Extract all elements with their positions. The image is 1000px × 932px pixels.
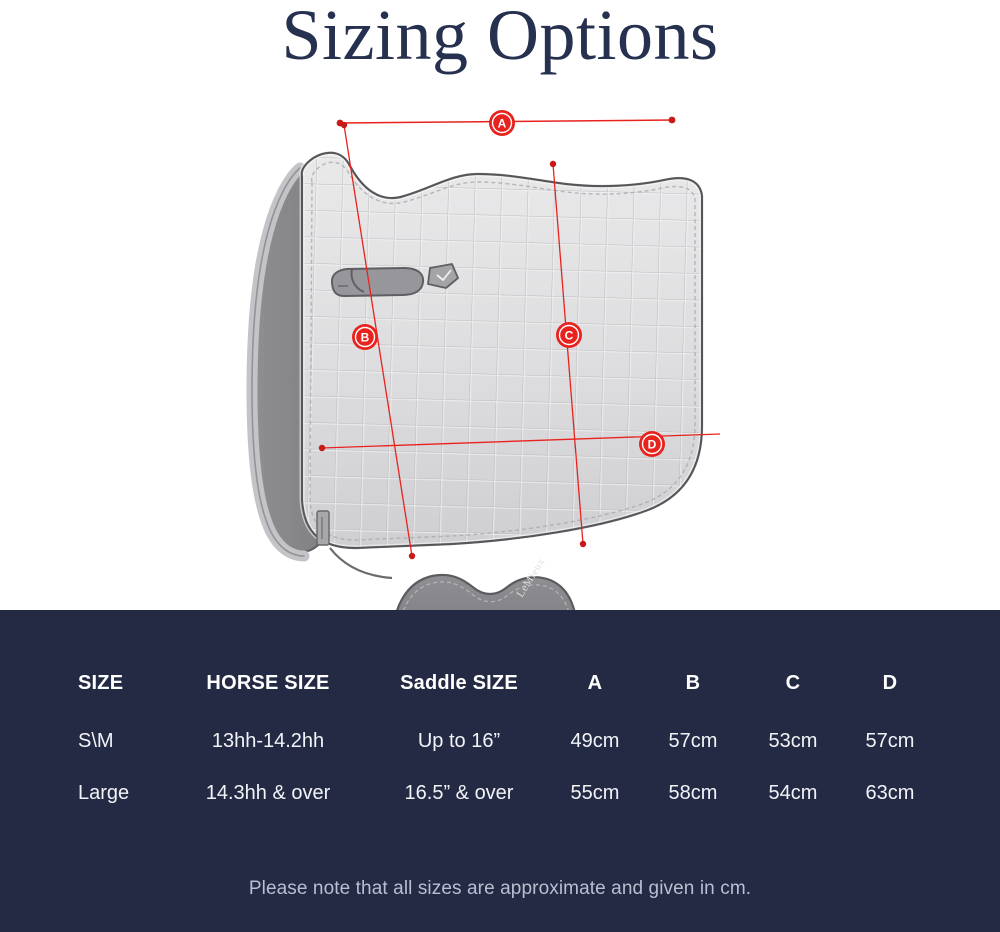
cell-d: 63cm <box>866 782 915 805</box>
cell-c: 54cm <box>769 782 818 805</box>
column-header-horse-size: HORSE SIZE <box>206 672 329 695</box>
measure-marker-d: D <box>639 431 665 457</box>
marker-label-c: C <box>565 329 574 343</box>
measure-marker-b: B <box>352 324 378 350</box>
column-header-a: A <box>588 672 603 695</box>
column-header-c: C <box>786 672 801 695</box>
table-header-row: SIZE HORSE SIZE Saddle SIZE A B C D <box>0 672 1000 712</box>
cell-c: 53cm <box>769 730 818 753</box>
pad-bottom-panel: LeMieux <box>392 556 578 611</box>
column-header-b: B <box>686 672 701 695</box>
table-row: Large 14.3hh & over 16.5” & over 55cm 58… <box>0 782 1000 822</box>
page-title-container: Sizing Options <box>0 0 1000 74</box>
measure-marker-a: A <box>489 110 515 136</box>
pad-body <box>290 146 720 566</box>
page-title: Sizing Options <box>0 0 1000 74</box>
cell-saddle-size: Up to 16” <box>418 730 500 753</box>
cell-a: 55cm <box>571 782 620 805</box>
sizing-options-page: Sizing Options <box>0 0 1000 932</box>
measure-marker-c: C <box>556 322 582 348</box>
marker-label-a: A <box>498 117 507 131</box>
table-row: S\M 13hh-14.2hh Up to 16” 49cm 57cm 53cm… <box>0 730 1000 770</box>
cell-horse-size: 13hh-14.2hh <box>212 730 324 753</box>
marker-label-d: D <box>648 438 657 452</box>
column-header-d: D <box>883 672 898 695</box>
cell-b: 57cm <box>669 730 718 753</box>
marker-label-b: B <box>361 331 370 345</box>
column-header-size: SIZE <box>78 672 123 695</box>
cell-saddle-size: 16.5” & over <box>405 782 514 805</box>
cell-d: 57cm <box>866 730 915 753</box>
cell-a: 49cm <box>571 730 620 753</box>
cell-b: 58cm <box>669 782 718 805</box>
cell-size: S\M <box>78 730 114 753</box>
size-table-panel: SIZE HORSE SIZE Saddle SIZE A B C D S\M … <box>0 610 1000 932</box>
cell-size: Large <box>78 782 129 805</box>
side-tab-label <box>317 511 329 545</box>
sizing-note: Please note that all sizes are approxima… <box>0 878 1000 900</box>
saddle-pad-diagram: LeMieux LeMieux <box>0 96 1000 611</box>
cell-horse-size: 14.3hh & over <box>206 782 331 805</box>
girth-strap-keeper <box>332 268 423 296</box>
column-header-saddle-size: Saddle SIZE <box>400 672 518 695</box>
